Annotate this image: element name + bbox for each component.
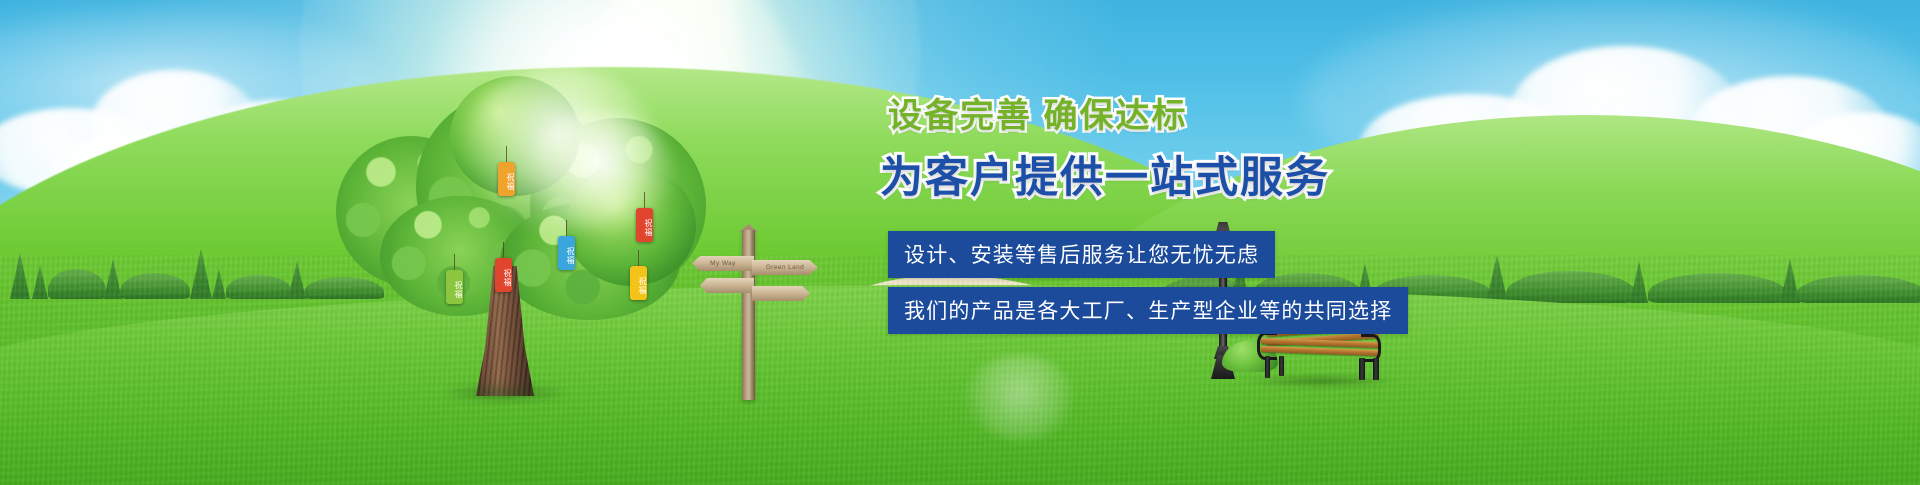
signpost-pole bbox=[742, 230, 755, 400]
wish-tag: 祝福 bbox=[446, 270, 463, 304]
bench-leg bbox=[1265, 356, 1270, 378]
light-orb bbox=[965, 355, 1075, 441]
signpost-arm-my-way: My Way bbox=[692, 256, 754, 271]
signpost-arm-green-land: Green Land bbox=[752, 260, 818, 275]
subline-bar-2: 我们的产品是各大工厂、生产型企业等的共同选择 bbox=[888, 287, 1408, 334]
hero-banner: 祝福 祝福 祝福 祝福 祝福 祝福 My Way Green Land bbox=[0, 0, 1920, 485]
signpost: My Way Green Land bbox=[700, 230, 830, 400]
headline-primary: 设备完善 确保达标 bbox=[888, 88, 1500, 137]
wish-tag: 祝福 bbox=[495, 258, 512, 292]
signpost-arm-blank bbox=[700, 278, 754, 293]
bench-leg bbox=[1373, 358, 1379, 380]
bench-leg bbox=[1279, 356, 1284, 376]
bench-leg bbox=[1359, 358, 1365, 380]
wish-tag: 祝福 bbox=[558, 236, 575, 270]
tree-illustration: 祝福 祝福 祝福 祝福 祝福 祝福 bbox=[330, 70, 730, 390]
wish-tag: 祝福 bbox=[498, 162, 515, 196]
signpost-arm-sunshine bbox=[752, 286, 810, 301]
headline-secondary: 为客户提供一站式服务 bbox=[880, 143, 1500, 205]
banner-copy: 设备完善 确保达标 为客户提供一站式服务 设计、安装等售后服务让您无忧无虑 我们… bbox=[880, 88, 1500, 334]
wish-tag: 祝福 bbox=[636, 208, 653, 242]
tree-shadow bbox=[440, 382, 570, 404]
wish-tag: 祝福 bbox=[630, 266, 647, 300]
subline-bar-1: 设计、安装等售后服务让您无忧无虑 bbox=[888, 231, 1275, 278]
